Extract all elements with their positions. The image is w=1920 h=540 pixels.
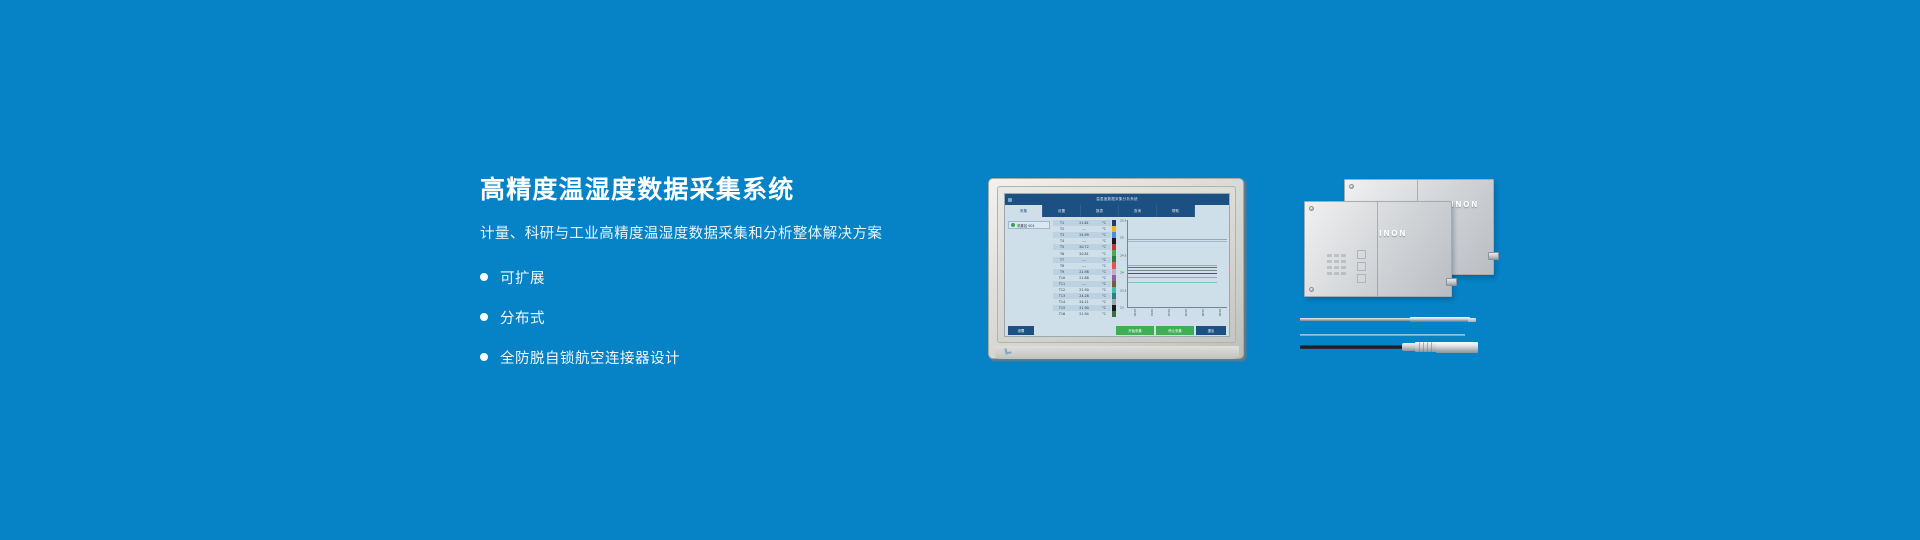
chart-plot-area: 25.52524.52423.523 <box>1127 220 1227 308</box>
chart-y-tick-label: 24 <box>1120 271 1124 275</box>
module-vent <box>1334 266 1339 269</box>
channel-data-table[interactable]: T121.61°CT2---°CT324.99°CT4---°CT520.72°… <box>1053 220 1111 318</box>
probe-extension-cable <box>1300 334 1465 336</box>
module-screw-icon <box>1309 287 1314 292</box>
page-title: 高精度温湿度数据采集系统 <box>480 175 950 205</box>
tab-label: 查询 <box>1134 209 1141 214</box>
value-cell: 24.99 <box>1071 233 1097 237</box>
tab-label: 帮助 <box>1172 209 1179 214</box>
page-subtitle: 计量、科研与工业高精度温湿度数据采集和分析整体解决方案 <box>480 225 950 244</box>
unit-cell: °C <box>1097 245 1111 249</box>
brand-mark-icon <box>1004 347 1011 354</box>
unit-cell: °C <box>1097 270 1111 274</box>
module-screw-icon <box>1349 184 1354 189</box>
knurl-ridge <box>1431 342 1432 352</box>
probe-strain-relief <box>1402 343 1416 351</box>
channel-cell: T11 <box>1053 282 1071 286</box>
knurl-ridge <box>1427 342 1428 352</box>
chart-x-tick-label: 10:10 <box>1150 309 1154 316</box>
settings-button[interactable]: 设置 <box>1008 326 1034 335</box>
module-screw-icon <box>1309 206 1314 211</box>
chart-y-tick-label: 23.5 <box>1120 288 1126 292</box>
value-cell: --- <box>1071 264 1097 268</box>
channel-cell: T2 <box>1053 227 1071 231</box>
channel-cell: T6 <box>1053 252 1071 256</box>
channel-cell: T5 <box>1053 245 1071 249</box>
tab-label: 设置 <box>1058 209 1065 214</box>
logger-module-front: INON <box>1304 201 1452 297</box>
module-label-plate <box>1357 262 1366 271</box>
chart-series-line <box>1128 267 1217 268</box>
chart-x-axis: 10:0010:1010:2010:3010:4010:50 <box>1127 309 1227 325</box>
module-connector-port <box>1488 252 1499 260</box>
channel-cell: T15 <box>1053 306 1071 310</box>
module-vent <box>1341 260 1346 263</box>
channel-cell: T1 <box>1053 221 1071 225</box>
channel-cell: T13 <box>1053 294 1071 298</box>
channel-cell: T3 <box>1053 233 1071 237</box>
unit-cell: °C <box>1097 276 1111 280</box>
value-cell: 21.88 <box>1071 276 1097 280</box>
chart-x-tick-label: 10:40 <box>1201 309 1205 316</box>
unit-cell: °C <box>1097 258 1111 262</box>
module-label-plate <box>1357 274 1366 283</box>
probe-braided-cable <box>1300 318 1412 321</box>
feature-label: 分布式 <box>500 307 545 328</box>
unit-cell: °C <box>1097 233 1111 237</box>
channel-cell: T8 <box>1053 264 1071 268</box>
unit-cell: °C <box>1097 306 1111 310</box>
feature-list: 可扩展 分布式 全防脱自锁航空连接器设计 <box>480 267 950 368</box>
unit-cell: °C <box>1097 239 1111 243</box>
feature-item: 可扩展 <box>480 267 950 288</box>
value-cell: --- <box>1071 258 1097 262</box>
module-vent <box>1327 254 1332 257</box>
module-vent <box>1327 272 1332 275</box>
module-label-plate <box>1357 250 1366 259</box>
monitor-bezel: 温湿度数据采集分析系统 采集 设置 报表 <box>997 186 1236 343</box>
unit-cell: °C <box>1097 252 1111 256</box>
module-vent <box>1327 260 1332 263</box>
app-content-area: 采集站 001 T121.61°CT2---°CT324.99°CT4---°C… <box>1005 217 1229 327</box>
tab-help[interactable]: 帮助 <box>1157 205 1195 217</box>
channel-cell: T12 <box>1053 288 1071 292</box>
product-banner: 高精度温湿度数据采集系统 计量、科研与工业高精度温湿度数据采集和分析整体解决方案… <box>0 0 1920 540</box>
feature-label: 全防脱自锁航空连接器设计 <box>500 347 680 368</box>
module-vent <box>1341 254 1346 257</box>
monitor-screen: 温湿度数据采集分析系统 采集 设置 报表 <box>1004 193 1230 337</box>
chart-series-line <box>1128 270 1217 271</box>
feature-item: 全防脱自锁航空连接器设计 <box>480 347 950 368</box>
channel-cell: T7 <box>1053 258 1071 262</box>
chart-series-line <box>1128 239 1227 240</box>
module-vent <box>1334 272 1339 275</box>
app-tab-bar: 采集 设置 报表 查询 帮助 <box>1005 205 1229 217</box>
tab-collect[interactable]: 采集 <box>1005 205 1043 217</box>
tab-settings[interactable]: 设置 <box>1043 205 1081 217</box>
module-vent <box>1341 272 1346 275</box>
app-title-bar: 温湿度数据采集分析系统 <box>1005 194 1229 205</box>
chart-y-tick-label: 24.5 <box>1120 253 1126 257</box>
channel-cell: T4 <box>1053 239 1071 243</box>
app-menu-icon[interactable] <box>1008 198 1012 202</box>
probe-stainless-tip <box>1410 317 1470 322</box>
table-row[interactable]: T1621.94°C <box>1053 311 1111 317</box>
chart-y-tick-label: 25.5 <box>1120 218 1126 222</box>
tab-label: 采集 <box>1020 209 1027 214</box>
monitor-base-strip <box>995 346 1239 359</box>
chart-x-tick-label: 10:00 <box>1133 309 1137 316</box>
value-cell: 21.90 <box>1071 288 1097 292</box>
button-label: 设置 <box>1018 328 1025 333</box>
chart-x-tick-label: 10:50 <box>1218 309 1222 316</box>
device-node-label: 采集站 001 <box>1017 223 1035 228</box>
tab-label: 报表 <box>1096 209 1103 214</box>
module-vent <box>1327 266 1332 269</box>
trend-chart: 25.52524.52423.523 10:0010:1010:2010:301… <box>1119 220 1227 325</box>
value-cell: 24.11 <box>1071 300 1097 304</box>
module-brand-label: INON <box>1379 229 1407 238</box>
value-cell: --- <box>1071 227 1097 231</box>
probe-aviation-connector-body <box>1436 342 1478 353</box>
tab-report[interactable]: 报表 <box>1081 205 1119 217</box>
value-cell: 21.90 <box>1071 306 1097 310</box>
feature-item: 分布式 <box>480 307 950 328</box>
value-cell: 21.98 <box>1071 270 1097 274</box>
button-label: 开始采集 <box>1128 328 1142 333</box>
chart-x-tick-label: 10:20 <box>1167 309 1171 316</box>
unit-cell: °C <box>1097 312 1111 316</box>
exit-button[interactable]: 退出 <box>1196 326 1226 335</box>
unit-cell: °C <box>1097 264 1111 268</box>
series-color-legend <box>1112 220 1116 317</box>
knurl-ridge <box>1423 342 1424 352</box>
legend-color-swatch <box>1112 311 1116 317</box>
data-logger-modules: INON INON <box>1300 175 1500 310</box>
probe-locking-nut <box>1415 342 1437 352</box>
unit-cell: °C <box>1097 294 1111 298</box>
chart-series-line <box>1128 277 1217 278</box>
value-cell: 21.61 <box>1071 221 1097 225</box>
unit-cell: °C <box>1097 227 1111 231</box>
unit-cell: °C <box>1097 288 1111 292</box>
probe-black-cable <box>1300 345 1405 349</box>
module-brand-label: INON <box>1451 200 1479 209</box>
button-label: 退出 <box>1208 328 1215 333</box>
chart-y-tick-label: 25 <box>1120 236 1124 240</box>
module-vent <box>1341 266 1346 269</box>
knurl-ridge <box>1419 342 1420 352</box>
value-cell: 24.28 <box>1071 294 1097 298</box>
bullet-dot-icon <box>480 313 488 321</box>
chart-series-line <box>1128 282 1217 283</box>
device-node-item[interactable]: 采集站 001 <box>1008 221 1050 229</box>
app-footer-toolbar: 设置 开始采集 停止采集 退出 <box>1005 325 1229 336</box>
chart-series-line <box>1128 273 1217 274</box>
bullet-dot-icon <box>480 353 488 361</box>
module-vent <box>1334 254 1339 257</box>
industrial-panel-monitor: 温湿度数据采集分析系统 采集 设置 报表 <box>988 178 1248 363</box>
probe-end-cap <box>1468 318 1476 322</box>
button-label: 停止采集 <box>1168 328 1182 333</box>
chart-x-tick-label: 10:30 <box>1184 309 1188 316</box>
channel-cell: T14 <box>1053 300 1071 304</box>
unit-cell: °C <box>1097 300 1111 304</box>
start-collect-button[interactable]: 开始采集 <box>1116 326 1154 335</box>
value-cell: 20.72 <box>1071 245 1097 249</box>
module-connector-port <box>1446 278 1457 286</box>
channel-cell: T16 <box>1053 312 1071 316</box>
chart-series-line <box>1128 265 1217 266</box>
module-seam <box>1377 202 1378 296</box>
channel-cell: T9 <box>1053 270 1071 274</box>
chart-series-line <box>1128 241 1227 242</box>
channel-cell: T10 <box>1053 276 1071 280</box>
bullet-dot-icon <box>480 273 488 281</box>
feature-label: 可扩展 <box>500 267 545 288</box>
sensor-probes <box>1300 312 1505 362</box>
tab-bar-filler <box>1195 205 1229 217</box>
unit-cell: °C <box>1097 282 1111 286</box>
module-vent <box>1334 260 1339 263</box>
chart-y-tick-label: 23 <box>1120 305 1124 309</box>
value-cell: --- <box>1071 282 1097 286</box>
value-cell: --- <box>1071 239 1097 243</box>
banner-copy: 高精度温湿度数据采集系统 计量、科研与工业高精度温湿度数据采集和分析整体解决方案… <box>480 175 950 387</box>
value-cell: 21.94 <box>1071 312 1097 316</box>
value-cell: 20.81 <box>1071 252 1097 256</box>
unit-cell: °C <box>1097 221 1111 225</box>
stop-collect-button[interactable]: 停止采集 <box>1156 326 1194 335</box>
online-status-icon <box>1011 223 1015 227</box>
monitor-outer-frame: 温湿度数据采集分析系统 采集 设置 报表 <box>988 178 1244 359</box>
tab-query[interactable]: 查询 <box>1119 205 1157 217</box>
app-window-title: 温湿度数据采集分析系统 <box>1096 197 1138 202</box>
